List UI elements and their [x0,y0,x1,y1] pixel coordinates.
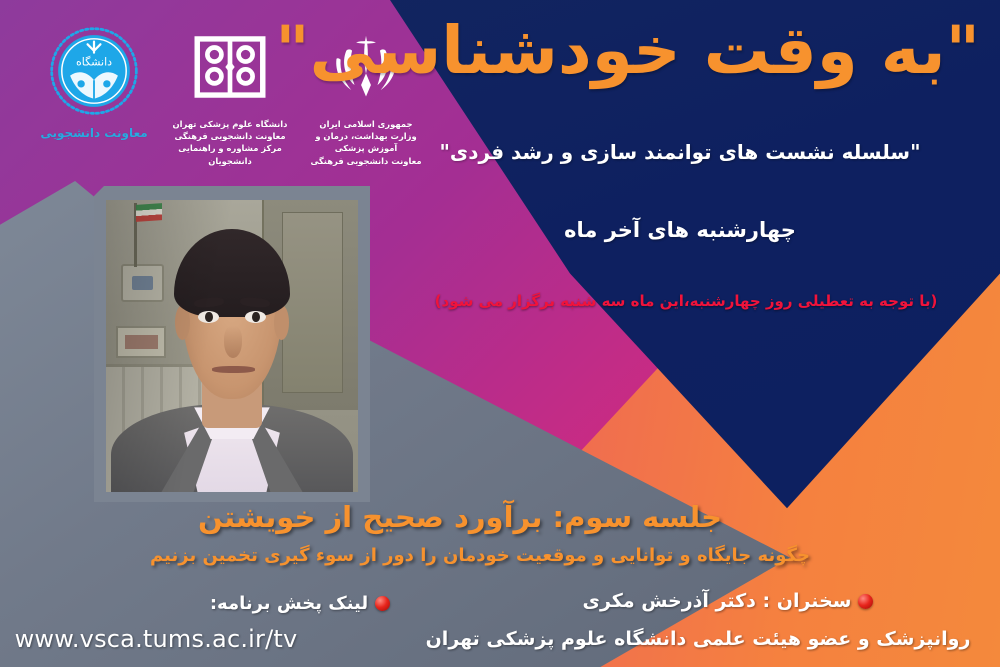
session-title: جلسه سوم: برآورد صحیح از خویشتن [120,500,800,534]
red-circle-icon [375,596,390,611]
poster-canvas: دانشگاه معاونت دانشجویی [0,0,1000,667]
speaker-name-text: سخنران : دکتر آذرخش مکری [583,590,852,612]
page-title: "به وقت خودشناسی" [380,16,980,85]
tums-emblem-icon [191,18,269,116]
logo-caption: معاونت دانشجویی [40,125,147,142]
schedule-note: (با توجه به تعطیلی روز چهارشنبه،این ماه … [386,292,986,310]
logo-caption: دانشگاه علوم پزشکی تهران معاونت دانشجویی… [166,118,294,167]
speaker-name: سخنران : دکتر آذرخش مکری [468,590,988,612]
page-subtitle: "سلسله نشست های توانمند سازی و رشد فردی" [380,140,980,164]
portrait-shadow-overlay [106,200,358,492]
stream-label-text: لینک پخش برنامه: [210,593,368,614]
session-description: چگونه جایگاه و توانایی و موقعیت خودمان ر… [130,545,830,566]
university-of-tehran-emblem-icon: دانشگاه [48,18,140,123]
speaker-portrait-photo [106,200,358,492]
logo-caption-line: دانشگاه علوم پزشکی تهران [166,118,294,130]
stream-label: لینک پخش برنامه: [170,593,430,614]
speaker-role: روانپزشک و عضو هیئت علمی دانشگاه علوم پز… [408,628,988,650]
logo-caption-line: جمهوری اسلامی ایران [302,118,430,130]
red-circle-icon [858,594,873,609]
logo-caption-line: معاونت دانشجویی فرهنگی [166,130,294,142]
logo-caption-line: معاونت دانشجویی [40,125,147,142]
speaker-portrait-frame [94,186,370,502]
schedule-text: چهارشنبه های آخر ماه [380,218,980,242]
logo-caption-line: مرکز مشاوره و راهنمایی دانشجویان [166,142,294,166]
logo-university-of-tehran: دانشگاه معاونت دانشجویی [30,18,158,142]
svg-text:دانشگاه: دانشگاه [76,55,112,68]
stream-url-link[interactable]: www.vsca.tums.ac.ir/tv [6,625,306,653]
